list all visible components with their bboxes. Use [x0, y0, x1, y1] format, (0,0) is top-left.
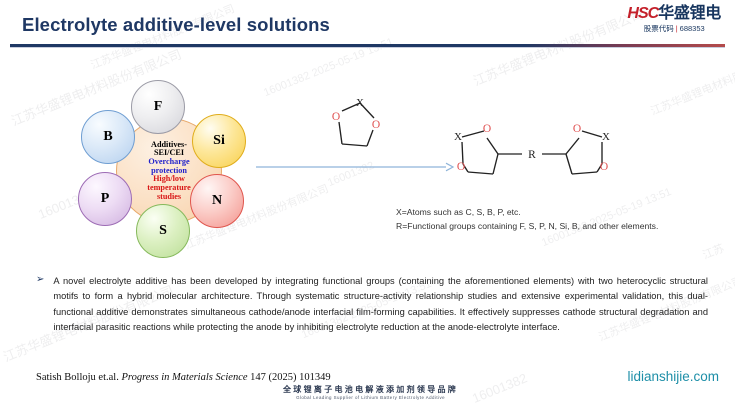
logo-stock-label: 股票代码	[644, 24, 674, 33]
logo-stock-number: 688353	[680, 24, 705, 33]
bubble-element-si: Si	[192, 114, 246, 168]
mol-right-ring2-o-top: O	[573, 123, 581, 135]
watermark-text: 16001382	[470, 370, 529, 405]
mol-right-ring1-x: X	[454, 131, 462, 143]
footer-tagline-block: 全球锂离子电池电解液添加剂领导品牌 Global Leading Supplie…	[283, 386, 458, 400]
bubble-element-s: S	[136, 204, 190, 258]
watermark-text: 江苏	[700, 240, 726, 263]
logo-chinese-mark: 华盛锂电	[658, 5, 721, 22]
footer-tagline-english: Global Leading Supplier of Lithium Batte…	[283, 396, 458, 400]
mol-left-x-label: X	[356, 97, 364, 109]
bullet-arrow-icon: ➢	[36, 274, 44, 335]
source-citation: Satish Bolloju et.al. Progress in Materi…	[36, 372, 331, 383]
mol-right-ring2-o-bottom: O	[600, 161, 608, 173]
page-title: Electrolyte additive-level solutions	[22, 14, 330, 36]
center-line-7: studies	[147, 193, 191, 202]
mol-left-o1-label: O	[332, 111, 340, 123]
citation-authors: Satish Bolloju et.al.	[36, 372, 119, 383]
footer-tagline-chinese: 全球锂离子电池电解液添加剂领导品牌	[283, 386, 458, 394]
logo-wordmark: HSC华盛锂电	[627, 6, 721, 22]
mol-right-ring1-o-bottom: O	[457, 161, 465, 173]
logo-stock-separator: |	[676, 24, 678, 33]
citation-journal: Progress in Materials Science	[121, 372, 247, 383]
slide-canvas: 江苏华盛锂电材料股份有限公司江苏华盛锂电材料股份有限公司16001382 202…	[0, 0, 735, 405]
citation-volume: 147 (2025) 101349	[250, 372, 331, 383]
company-logo: HSC华盛锂电 股票代码|688353	[627, 6, 721, 33]
mol-right-ring1-o-top: O	[483, 123, 491, 135]
molecule-single-ring-diagram: X O O	[320, 92, 400, 164]
logo-stock-code: 股票代码|688353	[627, 25, 721, 33]
watermark-text: 江苏华盛锂电材料股份有限公司	[88, 0, 237, 73]
logo-latin-mark: HSC	[627, 5, 658, 22]
molecule-legend: X=Atoms such as C, S, B, P, etc. R=Funct…	[396, 205, 731, 233]
bubble-element-p: P	[78, 172, 132, 226]
element-bubble-diagram: Additives- SEI/CEI Overcharge protection…	[68, 78, 278, 258]
bubble-element-f: F	[131, 80, 185, 134]
legend-r-line: R=Functional groups containing F, S, P, …	[396, 219, 731, 233]
bubble-element-b: B	[81, 110, 135, 164]
header-divider-shadow	[10, 47, 725, 48]
mol-right-r-label: R	[528, 149, 536, 161]
molecule-dual-ring-diagram: X O O R O X O	[438, 118, 628, 198]
footer-website-url[interactable]: lidianshijie.com	[627, 369, 719, 384]
mol-right-ring2-x: X	[602, 131, 610, 143]
body-paragraph: A novel electrolyte additive has been de…	[53, 274, 708, 335]
mol-left-o2-label: O	[372, 119, 380, 131]
legend-x-line: X=Atoms such as C, S, B, P, etc.	[396, 205, 731, 219]
bubble-center-text: Additives- SEI/CEI Overcharge protection…	[143, 141, 195, 202]
bubble-element-n: N	[190, 174, 244, 228]
body-bullet-block: ➢ A novel electrolyte additive has been …	[36, 274, 708, 335]
watermark-text: 江苏华盛锂电材料股份有限公司	[648, 46, 735, 119]
